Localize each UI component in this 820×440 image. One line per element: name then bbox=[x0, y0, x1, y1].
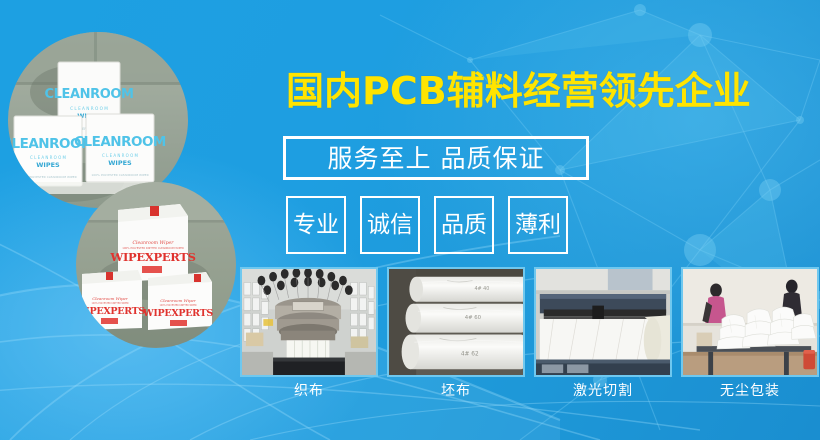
cleanroom-packing-image bbox=[683, 269, 817, 375]
subtitle-text: 服务至上 品质保证 bbox=[328, 146, 545, 171]
laser-cutting-machine-image bbox=[536, 269, 670, 375]
badge-low-margin: 薄利 bbox=[508, 196, 568, 254]
svg-text:100% POLYESTER CLEANROOM WIPER: 100% POLYESTER CLEANROOM WIPER bbox=[19, 175, 76, 179]
badge-integrity: 诚信 bbox=[360, 196, 420, 254]
thumbnail-cleanroom-packing-frame bbox=[681, 267, 819, 377]
thumbnail-greige-fabric-frame: 4# 40 4# 60 4# 62 bbox=[387, 267, 525, 377]
subtitle-box: 服务至上 品质保证 bbox=[283, 136, 589, 180]
svg-text:4# 62: 4# 62 bbox=[461, 352, 479, 358]
svg-text:4# 60: 4# 60 bbox=[465, 315, 482, 321]
knitting-machine-image bbox=[242, 269, 376, 375]
fabric-rolls-image: 4# 40 4# 60 4# 62 bbox=[389, 269, 523, 375]
svg-text:C L E A N R O O M: C L E A N R O O M bbox=[30, 155, 67, 160]
thumbnail-weaving-caption: 织布 bbox=[240, 384, 378, 398]
svg-text:WIPEXPERTS: WIPEXPERTS bbox=[76, 306, 145, 317]
product-photo-wipexperts: Cleanroom Wiper 100% POLYESTER KNITTED C… bbox=[76, 182, 236, 348]
thumbnail-weaving: 织布 bbox=[240, 267, 378, 398]
promo-banner: CLEANROOM C L E A N R O O M WIPES 100% P… bbox=[0, 0, 820, 440]
svg-text:WIPEXPERTS: WIPEXPERTS bbox=[109, 250, 195, 264]
svg-text:C L E A N R O O M: C L E A N R O O M bbox=[102, 153, 139, 158]
value-badges: 专业 诚信 品质 薄利 bbox=[286, 196, 568, 254]
thumbnail-cleanroom-packing-caption: 无尘包装 bbox=[681, 384, 819, 398]
thumbnail-laser-cutting-caption: 激光切割 bbox=[534, 384, 672, 398]
wipexperts-packs-image: Cleanroom Wiper 100% POLYESTER KNITTED C… bbox=[76, 182, 236, 348]
thumbnail-laser-cutting-frame bbox=[534, 267, 672, 377]
svg-text:Cleanroom Wiper: Cleanroom Wiper bbox=[133, 240, 175, 246]
badge-quality: 品质 bbox=[434, 196, 494, 254]
svg-text:4# 40: 4# 40 bbox=[474, 286, 489, 292]
svg-text:100% POLYESTER CLEANROOM WIPER: 100% POLYESTER CLEANROOM WIPER bbox=[91, 173, 148, 177]
svg-text:CLEANROOM: CLEANROOM bbox=[44, 87, 133, 102]
svg-text:100% POLYESTER KNITTED WIPER: 100% POLYESTER KNITTED WIPER bbox=[159, 304, 197, 307]
thumbnail-weaving-frame bbox=[240, 267, 378, 377]
svg-text:C L E A N R O O M: C L E A N R O O M bbox=[70, 106, 108, 111]
badge-professional: 专业 bbox=[286, 196, 346, 254]
svg-text:WIPES: WIPES bbox=[36, 161, 60, 169]
process-thumbnails: 织布 bbox=[240, 267, 819, 398]
headline: 国内PCB辅料经营领先企业 bbox=[286, 72, 751, 110]
svg-text:WIPES: WIPES bbox=[108, 159, 132, 167]
thumbnail-laser-cutting: 激光切割 bbox=[534, 267, 672, 398]
svg-text:WIPEXPERTS: WIPEXPERTS bbox=[142, 308, 213, 319]
svg-text:CLEANROOM: CLEANROOM bbox=[74, 134, 166, 150]
svg-text:100% POLYESTER KNITTED WIPER: 100% POLYESTER KNITTED WIPER bbox=[91, 302, 129, 305]
thumbnail-cleanroom-packing: 无尘包装 bbox=[681, 267, 819, 398]
svg-text:Cleanroom Wiper: Cleanroom Wiper bbox=[160, 298, 197, 303]
thumbnail-greige-fabric-caption: 坯布 bbox=[387, 384, 525, 398]
svg-text:Cleanroom Wiper: Cleanroom Wiper bbox=[92, 296, 129, 301]
thumbnail-greige-fabric: 4# 40 4# 60 4# 62 bbox=[387, 267, 525, 398]
